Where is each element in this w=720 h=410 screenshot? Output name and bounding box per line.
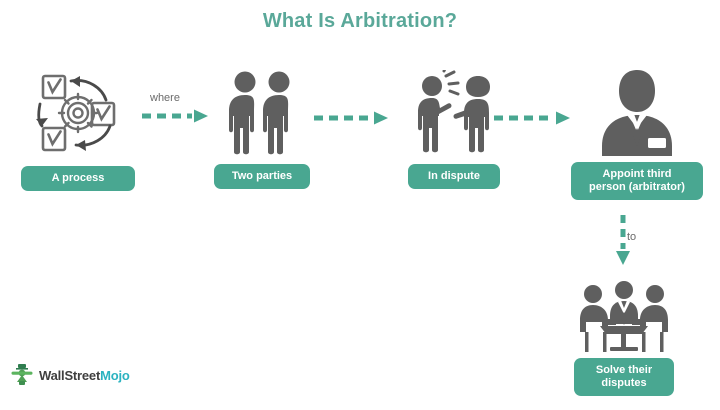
logo-text-accent: Mojo [100,368,130,383]
dashed-arrow-right-icon [492,110,572,126]
node-label-a-process: A process [21,166,135,191]
dashed-arrow-right-icon [312,110,390,126]
infographic-canvas: What Is Arbitration? [0,0,720,410]
people-arguing-icon [406,70,502,156]
businessman-icon [594,66,680,156]
connector-label-to: to [627,231,636,243]
node-label-in-dispute: In dispute [408,164,500,189]
node-label-appoint-arbitrator: Appoint third person (arbitrator) [571,162,703,200]
node-solve-disputes: Solve their disputes [562,278,686,396]
logo-text: WallStreetMojo [39,368,130,383]
wallstreetmojo-logo-icon [10,363,34,387]
node-label-two-parties: Two parties [214,164,310,189]
connector-arrow-3 [492,110,572,131]
node-two-parties: Two parties [198,68,326,189]
wallstreetmojo-logo[interactable]: WallStreetMojo [10,363,130,387]
node-appoint-arbitrator: Appoint third person (arbitrator) [570,66,704,200]
node-a-process: A process [8,68,148,191]
meeting-table-icon [572,278,676,354]
connector-arrow-2 [312,110,390,131]
page-title: What Is Arbitration? [0,10,720,33]
connector-label-where: where [150,92,180,104]
two-people-icon [219,68,305,156]
process-cycle-gear-icon [30,68,126,156]
logo-text-primary: WallStreet [39,368,100,383]
node-label-solve-disputes: Solve their disputes [574,358,674,396]
